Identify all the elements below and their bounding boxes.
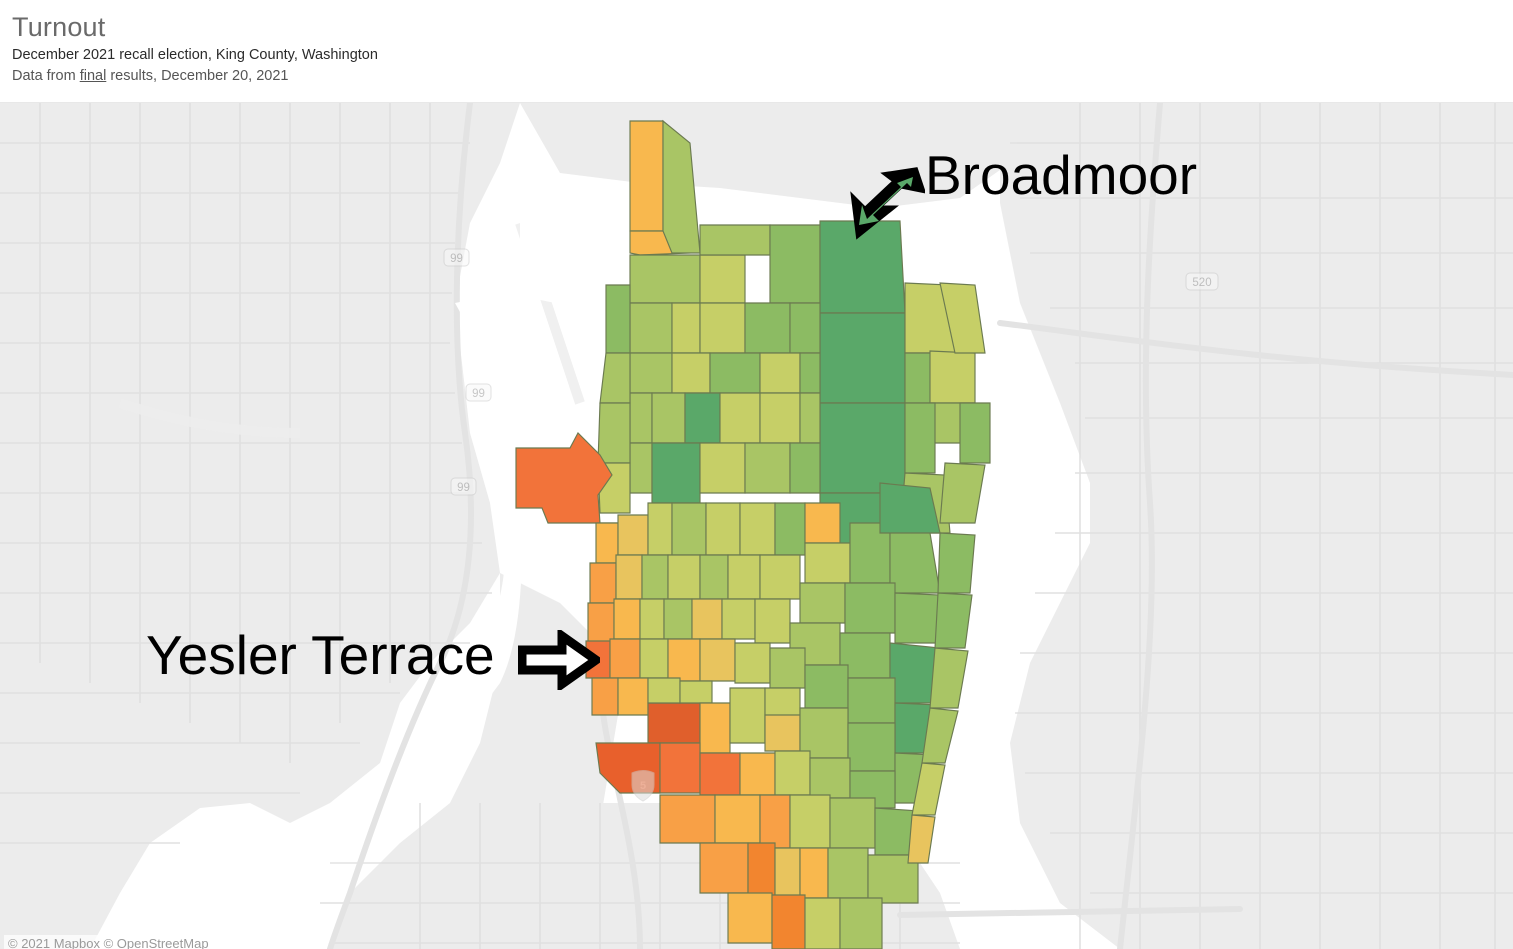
precinct-polygon[interactable] bbox=[760, 353, 800, 393]
precinct-polygon[interactable] bbox=[715, 795, 760, 843]
precinct-polygon[interactable] bbox=[755, 599, 790, 643]
precinct-polygon[interactable] bbox=[820, 403, 905, 493]
precinct-polygon[interactable] bbox=[800, 583, 845, 623]
precinct-polygon[interactable] bbox=[840, 898, 882, 949]
precinct-polygon[interactable] bbox=[706, 503, 740, 555]
data-source-prefix: Data from bbox=[12, 68, 80, 84]
precinct-polygon[interactable] bbox=[710, 353, 760, 393]
precinct-polygon[interactable] bbox=[606, 285, 630, 353]
precinct-polygon[interactable] bbox=[652, 393, 685, 443]
precinct-polygon[interactable] bbox=[800, 848, 828, 898]
visualization-canvas: Turnout December 2021 recall election, K… bbox=[0, 0, 1513, 949]
precinct-polygon[interactable] bbox=[728, 893, 772, 943]
precinct-polygon[interactable] bbox=[598, 403, 630, 463]
precinct-polygon[interactable] bbox=[700, 303, 745, 353]
precinct-polygon[interactable] bbox=[672, 303, 700, 353]
svg-text:5: 5 bbox=[640, 780, 646, 792]
precinct-polygon[interactable] bbox=[618, 678, 648, 715]
precinct-polygon[interactable] bbox=[728, 555, 760, 599]
precinct-polygon[interactable] bbox=[805, 665, 848, 708]
precinct-polygon[interactable] bbox=[880, 483, 940, 533]
highway-shield-99-south: 99 bbox=[451, 478, 476, 495]
precinct-polygon[interactable] bbox=[805, 543, 850, 583]
precinct-polygon[interactable] bbox=[765, 715, 800, 751]
precinct-polygon[interactable] bbox=[672, 353, 710, 393]
svg-text:99: 99 bbox=[472, 388, 485, 400]
precinct-polygon[interactable] bbox=[830, 798, 875, 848]
precinct-polygon[interactable] bbox=[828, 848, 868, 898]
precinct-polygon[interactable] bbox=[760, 393, 800, 443]
precinct-polygon[interactable] bbox=[722, 599, 755, 639]
precinct-polygon[interactable] bbox=[700, 255, 745, 303]
precinct-polygon[interactable] bbox=[730, 688, 765, 743]
precinct-polygon[interactable] bbox=[692, 599, 722, 639]
highway-shield-520: 520 bbox=[1186, 273, 1218, 290]
data-source-note: Data from final results, December 20, 20… bbox=[12, 66, 1513, 86]
map-container[interactable]: 99 99 99 520 bbox=[0, 103, 1513, 949]
precinct-polygon[interactable] bbox=[720, 393, 760, 443]
precinct-polygon[interactable] bbox=[630, 303, 672, 353]
precinct-polygon[interactable] bbox=[590, 563, 616, 603]
precinct-polygon[interactable] bbox=[586, 641, 610, 678]
precinct-polygon[interactable] bbox=[748, 843, 775, 898]
precinct-polygon[interactable] bbox=[820, 221, 905, 313]
precinct-polygon[interactable] bbox=[805, 898, 840, 949]
precinct-polygon[interactable] bbox=[630, 443, 652, 493]
precinct-polygon[interactable] bbox=[672, 503, 706, 555]
precinct-polygon[interactable] bbox=[700, 555, 728, 599]
precinct-polygon[interactable] bbox=[700, 443, 745, 493]
precinct-polygon[interactable] bbox=[668, 639, 700, 681]
choropleth-map-svg[interactable]: 99 99 99 520 bbox=[0, 103, 1513, 949]
precinct-polygon[interactable] bbox=[616, 555, 642, 599]
precinct-polygon[interactable] bbox=[735, 643, 770, 683]
precinct-polygon[interactable] bbox=[938, 533, 975, 593]
precinct-polygon[interactable] bbox=[790, 303, 820, 353]
precinct-polygon[interactable] bbox=[685, 393, 720, 443]
svg-text:520: 520 bbox=[1192, 277, 1211, 289]
precinct-polygon[interactable] bbox=[668, 555, 700, 599]
precinct-polygon[interactable] bbox=[960, 403, 990, 463]
precinct-polygon[interactable] bbox=[745, 443, 790, 493]
precinct-polygon[interactable] bbox=[848, 723, 895, 771]
precinct-polygon[interactable] bbox=[760, 795, 790, 848]
svg-text:99: 99 bbox=[457, 482, 470, 494]
precinct-polygon[interactable] bbox=[745, 303, 790, 353]
precinct-polygon[interactable] bbox=[648, 503, 672, 555]
precinct-polygon[interactable] bbox=[640, 599, 664, 639]
precinct-polygon[interactable] bbox=[845, 583, 895, 633]
final-results-link[interactable]: final bbox=[80, 68, 107, 84]
precinct-polygon[interactable] bbox=[610, 639, 640, 678]
precinct-polygon[interactable] bbox=[642, 555, 668, 599]
precinct-polygon[interactable] bbox=[648, 703, 700, 743]
precinct-polygon[interactable] bbox=[770, 225, 820, 303]
precinct-polygon[interactable] bbox=[660, 795, 715, 843]
precinct-polygon[interactable] bbox=[772, 895, 805, 949]
precinct-polygon[interactable] bbox=[630, 121, 663, 231]
precinct-polygon[interactable] bbox=[740, 753, 775, 795]
viz-header: Turnout December 2021 recall election, K… bbox=[0, 0, 1513, 103]
precinct-polygon[interactable] bbox=[800, 393, 820, 443]
precinct-polygon[interactable] bbox=[596, 523, 618, 563]
precinct-polygon[interactable] bbox=[905, 403, 935, 473]
precinct-polygon[interactable] bbox=[660, 743, 700, 793]
precinct-polygon[interactable] bbox=[810, 758, 850, 798]
precinct-polygon[interactable] bbox=[630, 353, 672, 393]
precinct-polygon[interactable] bbox=[700, 639, 735, 681]
precinct-polygon[interactable] bbox=[790, 795, 830, 848]
data-source-suffix: results, December 20, 2021 bbox=[106, 68, 288, 84]
precinct-polygon[interactable] bbox=[664, 599, 692, 639]
precinct-polygon[interactable] bbox=[848, 678, 895, 723]
basemap-water-lake-union bbox=[520, 215, 620, 305]
page-title: Turnout bbox=[12, 12, 1513, 42]
precinct-polygon[interactable] bbox=[700, 753, 740, 795]
precinct-polygon[interactable] bbox=[640, 639, 668, 678]
precinct-polygon[interactable] bbox=[800, 353, 820, 393]
precinct-polygon[interactable] bbox=[805, 503, 840, 543]
precinct-polygon[interactable] bbox=[588, 603, 614, 643]
precinct-polygon[interactable] bbox=[930, 351, 975, 403]
highway-shield-99-north: 99 bbox=[444, 249, 469, 266]
precinct-polygon[interactable] bbox=[740, 503, 775, 555]
precinct-polygon[interactable] bbox=[648, 678, 680, 703]
precinct-polygon[interactable] bbox=[775, 503, 805, 555]
precinct-polygon[interactable] bbox=[592, 678, 618, 715]
precinct-polygon[interactable] bbox=[790, 443, 820, 493]
precinct-polygon[interactable] bbox=[820, 313, 905, 403]
precinct-polygon[interactable] bbox=[630, 255, 700, 303]
precinct-polygon[interactable] bbox=[935, 593, 972, 648]
precinct-polygon[interactable] bbox=[618, 515, 648, 555]
page-subtitle: December 2021 recall election, King Coun… bbox=[12, 45, 1513, 65]
map-attribution[interactable]: © 2021 Mapbox © OpenStreetMap bbox=[4, 935, 213, 949]
precinct-polygon[interactable] bbox=[630, 393, 652, 443]
precinct-polygon[interactable] bbox=[770, 648, 805, 688]
precinct-polygon[interactable] bbox=[700, 225, 770, 255]
precinct-polygon[interactable] bbox=[700, 843, 748, 893]
highway-shield-99-mid: 99 bbox=[466, 384, 491, 401]
svg-text:99: 99 bbox=[450, 253, 463, 265]
precinct-polygon[interactable] bbox=[614, 599, 640, 639]
precinct-polygon[interactable] bbox=[775, 848, 800, 898]
precinct-polygon[interactable] bbox=[700, 703, 730, 753]
precinct-polygon[interactable] bbox=[775, 751, 810, 795]
precinct-polygon[interactable] bbox=[652, 443, 700, 503]
precinct-polygon[interactable] bbox=[760, 555, 800, 599]
precinct-polygon[interactable] bbox=[680, 681, 712, 703]
